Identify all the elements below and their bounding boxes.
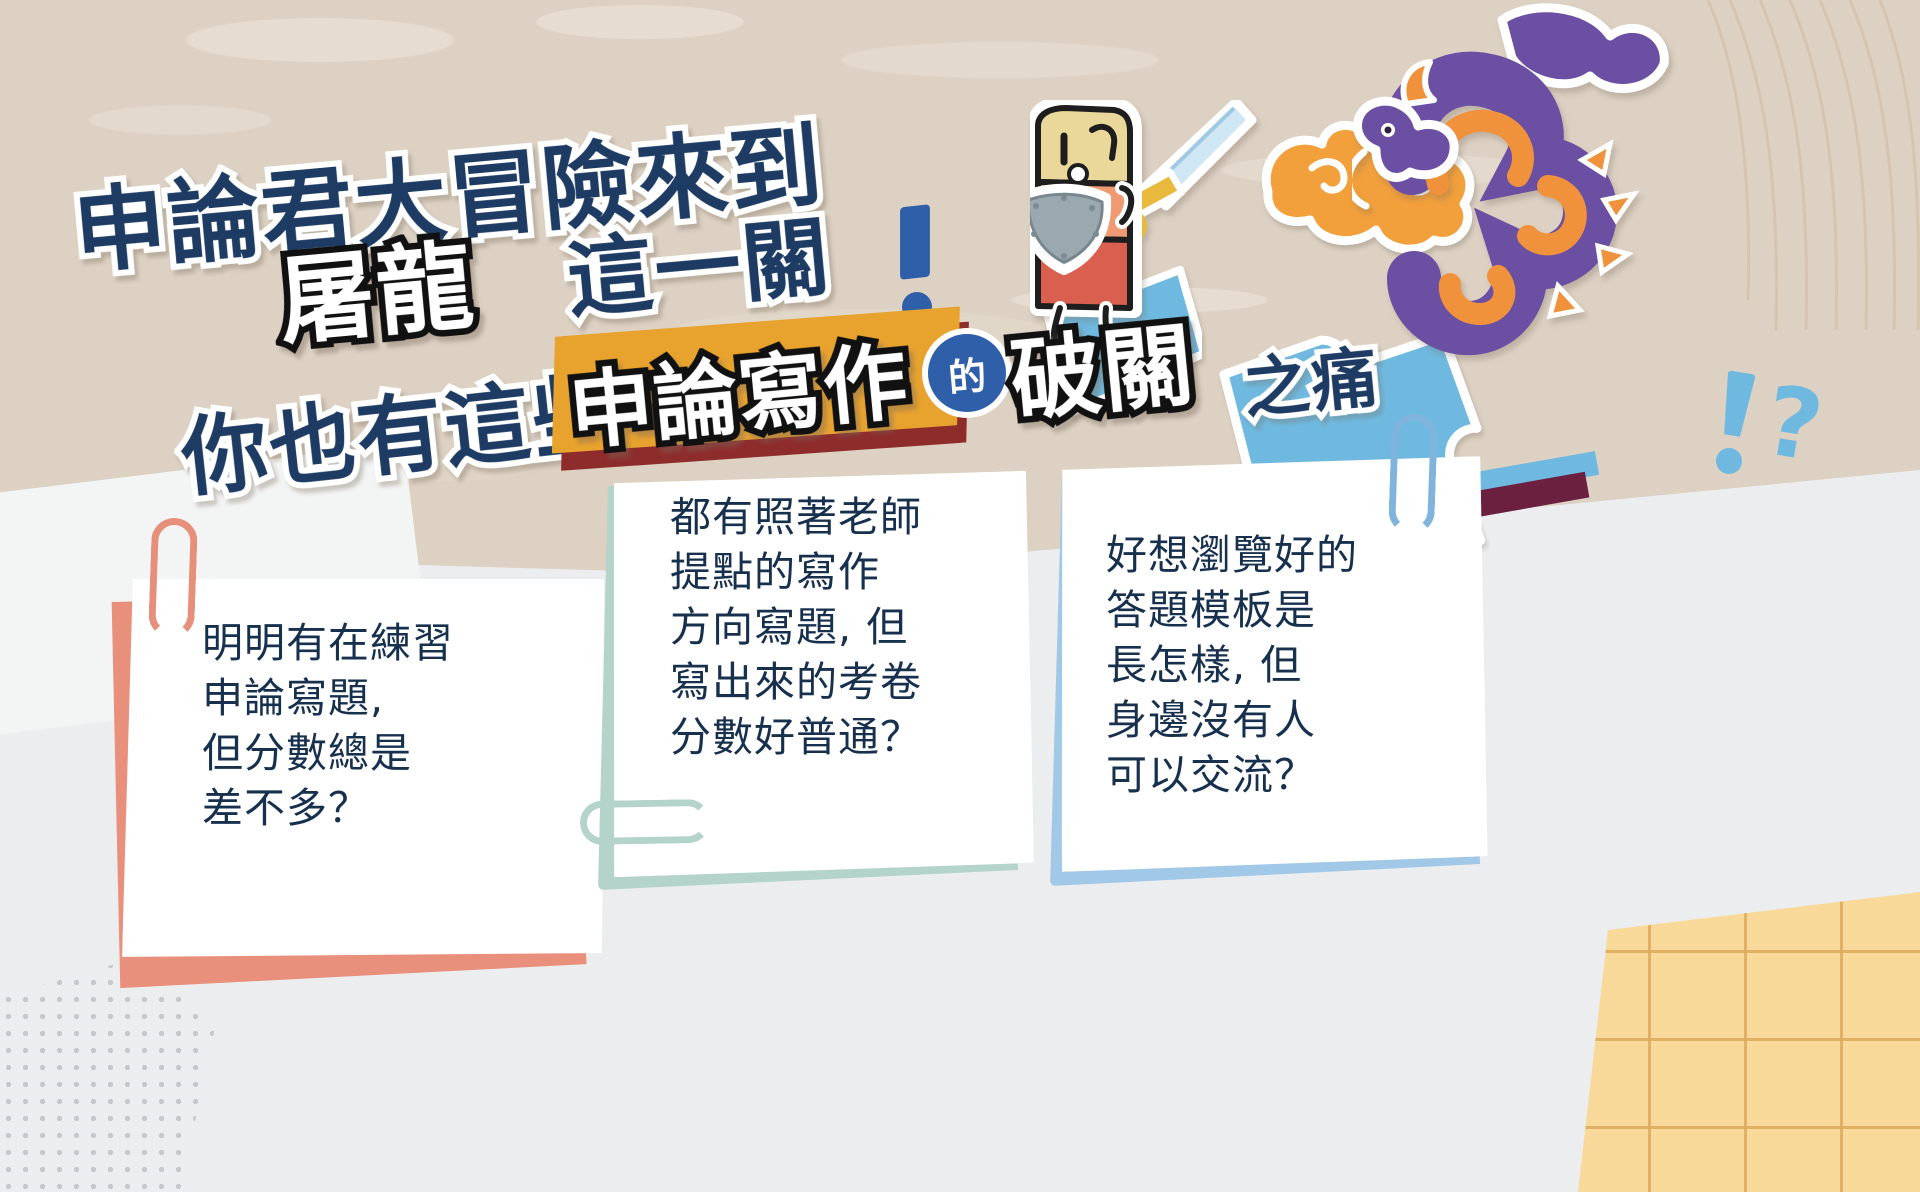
card-text: 都有照著老師 提點的寫作 方向寫題, 但 寫出來的考卷 分數好普通？ (670, 490, 922, 765)
pain-point-card-3: 好想瀏覽好的 答題模板是 長怎樣, 但 身邊沒有人 可以交流？ (1050, 456, 1520, 896)
exclamation-mark-dot-icon (1716, 448, 1742, 474)
card-text: 好想瀏覽好的 答題模板是 長怎樣, 但 身邊沒有人 可以交流？ (1106, 528, 1358, 803)
poster-canvas: 申論君大冒險來到 屠龍 這一關 你也有這些 申論寫作 的 破關 之痛 ? 明明有… (0, 0, 1920, 1192)
exclamation-bar-icon (900, 204, 930, 280)
pain-point-card-1: 明明有在練習 申論寫題, 但分數總是 差不多？ (98, 590, 618, 1000)
paperclip-icon (580, 799, 711, 845)
headline-line-3-suffix: 之痛 (1239, 324, 1384, 433)
paperclip-icon (1388, 413, 1438, 535)
blue-circle-label: 的 (946, 344, 989, 402)
paperclip-icon (148, 517, 198, 639)
blue-circle-badge: 的 (928, 334, 1006, 412)
question-mark-icon: ? (1758, 364, 1831, 483)
exclamation-mark-icon (1718, 370, 1756, 438)
headline-line-3-black: 破關 (1004, 291, 1200, 438)
card-text: 明明有在練習 申論寫題, 但分數總是 差不多？ (202, 616, 454, 836)
pain-point-card-2: 都有照著老師 提點的寫作 方向寫題, 但 寫出來的考卷 分數好普通？ (598, 470, 1068, 900)
headline-line-2-black: 屠龍 (272, 207, 480, 363)
headline-line-2-navy: 這一關 (561, 186, 835, 334)
